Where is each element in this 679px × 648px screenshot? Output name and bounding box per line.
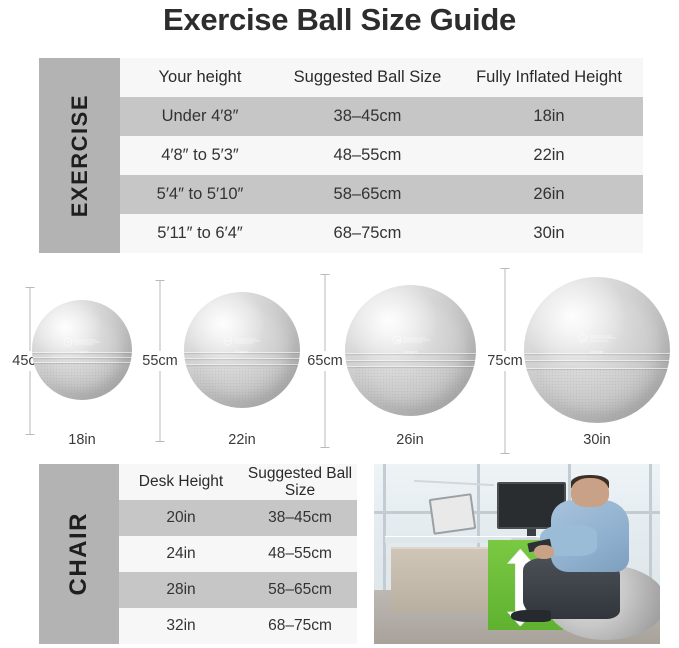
ball-caption-18in: 18in bbox=[42, 432, 122, 448]
exercise-cell-ball-size: 38–45cm bbox=[280, 107, 455, 125]
measure-cap-bottom bbox=[321, 447, 330, 448]
chair-cell-desk-height: 24in bbox=[119, 545, 243, 562]
page-title: Exercise Ball Size Guide bbox=[0, 2, 679, 38]
ball-logo-icon bbox=[224, 336, 261, 345]
photo-person-head bbox=[571, 478, 608, 507]
ball-logo-icon bbox=[64, 338, 101, 347]
exercise-header-ball-size: Suggested Ball Size bbox=[280, 68, 455, 86]
chair-cell-desk-height: 28in bbox=[119, 581, 243, 598]
photo-desk-cabinet bbox=[391, 547, 494, 612]
ball-measure-75cm: 75cm bbox=[487, 268, 523, 454]
ball-texture bbox=[40, 362, 124, 396]
measure-label: 75cm bbox=[486, 351, 523, 371]
photo-window-mullion bbox=[383, 464, 386, 590]
exercise-table-header-row: Your height Suggested Ball Size Fully In… bbox=[120, 58, 643, 97]
table-row: 5′11″ to 6′4″ 68–75cm 30in bbox=[120, 214, 643, 253]
measure-cap-bottom bbox=[156, 441, 165, 442]
size-guide-page: Exercise Ball Size Guide EXERCISE Your h… bbox=[0, 0, 679, 648]
measure-label: 55cm bbox=[141, 351, 178, 371]
chair-cell-desk-height: 32in bbox=[119, 617, 243, 634]
exercise-ball-45cm: Gruper bbox=[32, 300, 132, 400]
table-row: 24in 48–55cm bbox=[119, 536, 357, 572]
table-row: 32in 68–75cm bbox=[119, 608, 357, 644]
table-row: 20in 38–45cm bbox=[119, 500, 357, 536]
exercise-cell-ball-size: 58–65cm bbox=[280, 185, 455, 203]
chair-table-rows: Desk Height Suggested Ball Size 20in 38–… bbox=[119, 464, 357, 644]
measure-cap-bottom bbox=[26, 434, 35, 435]
exercise-size-table: EXERCISE Your height Suggested Ball Size… bbox=[39, 58, 643, 253]
ball-size-illustrations: 45cm Gruper 18in 55cm bbox=[0, 262, 679, 457]
ball-logo-icon bbox=[579, 334, 616, 343]
exercise-table-rows: Your height Suggested Ball Size Fully In… bbox=[120, 58, 643, 253]
exercise-ball-65cm: Gruper bbox=[345, 285, 476, 416]
ball-caption-30in: 30in bbox=[557, 432, 637, 448]
chair-size-table: CHAIR Desk Height Suggested Ball Size 20… bbox=[39, 464, 357, 644]
exercise-cell-height: 5′11″ to 6′4″ bbox=[120, 224, 280, 242]
chair-table-header-row: Desk Height Suggested Ball Size bbox=[119, 464, 357, 500]
chair-table-side-label: CHAIR bbox=[39, 464, 119, 644]
table-row: 5′4″ to 5′10″ 58–65cm 26in bbox=[120, 175, 643, 214]
measure-label: 65cm bbox=[306, 351, 343, 371]
ball-caption-26in: 26in bbox=[370, 432, 450, 448]
photo-secondary-monitor bbox=[429, 494, 476, 536]
ball-brand-text: Gruper bbox=[235, 349, 249, 354]
table-row: 28in 58–65cm bbox=[119, 572, 357, 608]
office-usage-photo bbox=[374, 464, 660, 644]
chair-cell-ball-size: 48–55cm bbox=[243, 545, 357, 562]
exercise-table-side-label: EXERCISE bbox=[39, 58, 120, 253]
chair-table-side-label-text: CHAIR bbox=[65, 512, 93, 596]
photo-person-shoe bbox=[511, 610, 551, 623]
exercise-table-side-label-text: EXERCISE bbox=[67, 94, 93, 217]
exercise-cell-ball-size: 68–75cm bbox=[280, 224, 455, 242]
chair-cell-desk-height: 20in bbox=[119, 509, 243, 526]
exercise-header-your-height: Your height bbox=[120, 68, 280, 86]
table-row: 4′8″ to 5′3″ 48–55cm 22in bbox=[120, 136, 643, 175]
exercise-cell-height: Under 4′8″ bbox=[120, 107, 280, 125]
ball-texture bbox=[355, 366, 465, 411]
ball-measure-55cm: 55cm bbox=[142, 280, 178, 442]
table-row: Under 4′8″ 38–45cm 18in bbox=[120, 97, 643, 136]
ball-brand-text: Gruper bbox=[590, 349, 604, 354]
exercise-cell-inflated: 22in bbox=[455, 146, 643, 164]
exercise-cell-inflated: 30in bbox=[455, 224, 643, 242]
ball-texture bbox=[193, 364, 290, 403]
chair-cell-ball-size: 68–75cm bbox=[243, 617, 357, 634]
ball-brand-text: Gruper bbox=[404, 349, 418, 354]
exercise-ball-75cm: Gruper bbox=[524, 277, 670, 423]
photo-person-hand bbox=[534, 545, 554, 559]
chair-header-desk-height: Desk Height bbox=[119, 473, 243, 490]
measure-cap-bottom bbox=[501, 453, 510, 454]
chair-cell-ball-size: 58–65cm bbox=[243, 581, 357, 598]
chair-header-ball-size: Suggested Ball Size bbox=[243, 465, 357, 500]
exercise-header-inflated-height: Fully Inflated Height bbox=[455, 68, 643, 86]
exercise-cell-height: 4′8″ to 5′3″ bbox=[120, 146, 280, 164]
exercise-ball-55cm: Gruper bbox=[184, 292, 300, 408]
ball-caption-22in: 22in bbox=[202, 432, 282, 448]
ball-brand-text: Gruper bbox=[75, 349, 89, 354]
ball-logo-icon bbox=[392, 336, 429, 345]
exercise-cell-height: 5′4″ to 5′10″ bbox=[120, 185, 280, 203]
exercise-cell-ball-size: 48–55cm bbox=[280, 146, 455, 164]
exercise-cell-inflated: 18in bbox=[455, 107, 643, 125]
ball-texture bbox=[536, 368, 659, 418]
exercise-cell-inflated: 26in bbox=[455, 185, 643, 203]
photo-window-mullion bbox=[649, 464, 652, 590]
chair-cell-ball-size: 38–45cm bbox=[243, 509, 357, 526]
ball-measure-65cm: 65cm bbox=[307, 274, 343, 448]
